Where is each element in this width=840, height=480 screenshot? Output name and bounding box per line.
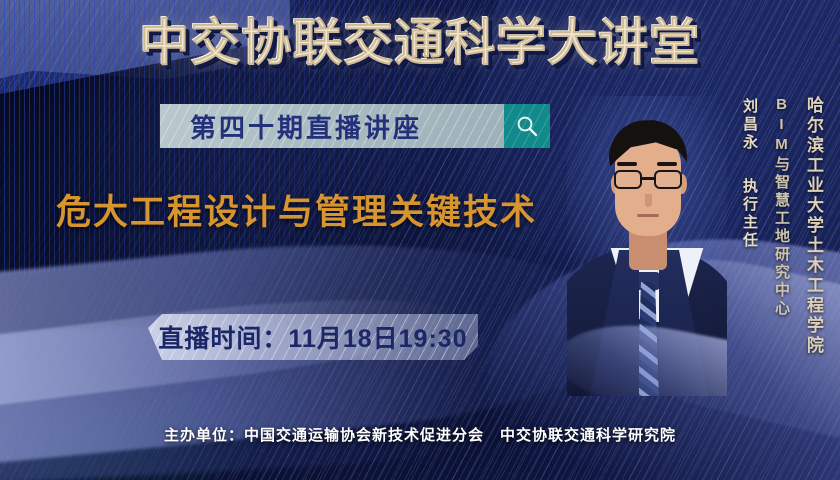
speaker-portrait xyxy=(567,96,727,396)
portrait-lens-right xyxy=(654,170,682,189)
episode-banner: 第四十期直播讲座 xyxy=(160,104,504,148)
speaker-center: BIM与智慧工地研究中心 xyxy=(771,96,792,318)
portrait-brow-right xyxy=(657,162,677,166)
speaker-role: 执行主任 xyxy=(739,178,760,250)
episode-label: 第四十期直播讲座 xyxy=(160,108,422,145)
broadcast-time-text: 直播时间：11月18日19:30 xyxy=(158,319,467,355)
lecture-headline: 危大工程设计与管理关键技术 xyxy=(56,190,537,236)
speaker-school: 哈尔滨工业大学土木工程学院 xyxy=(801,96,826,356)
portrait-lens-left xyxy=(614,170,642,189)
search-icon xyxy=(515,114,539,138)
speaker-name: 刘昌永 xyxy=(739,98,760,152)
organizer-footer: 主办单位：中国交通运输协会新技术促进分会 中交协联交通科学研究院 xyxy=(0,424,840,445)
page-title: 中交协联交通科学大讲堂 xyxy=(0,14,840,72)
portrait-glasses-bridge xyxy=(642,177,654,180)
portrait-brow-left xyxy=(617,162,637,166)
portrait-nose xyxy=(645,194,652,207)
glasses-icon xyxy=(611,170,685,190)
search-button[interactable] xyxy=(504,104,550,148)
broadcast-time-badge: 直播时间：11月18日19:30 xyxy=(148,314,478,360)
portrait-mouth xyxy=(637,214,659,217)
livestream-poster: 中交协联交通科学大讲堂 第四十期直播讲座 危大工程设计与管理关键技术 直播时间：… xyxy=(0,0,840,480)
